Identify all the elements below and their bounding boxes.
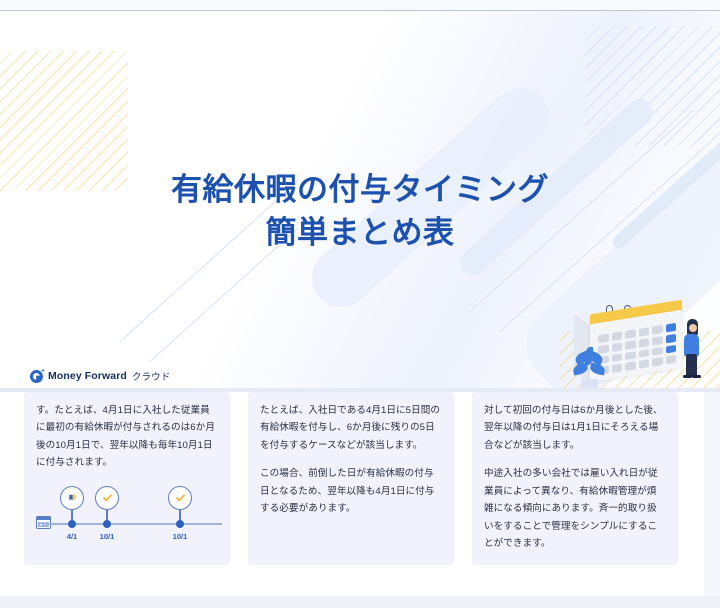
hero-background: 有給休暇の付与タイミング簡単まとめ表 Money Forward クラウド xyxy=(0,11,720,388)
timeline-node xyxy=(176,520,184,528)
slide-viewer: 有給休暇の付与タイミング簡単まとめ表 Money Forward クラウド xyxy=(0,0,720,608)
timeline-label: 10/1 xyxy=(173,532,188,541)
info-card: 対して初回の付与日は6か月後とした後、翌年以降の付与日は1月1日にそろえる場合な… xyxy=(472,392,678,565)
viewer-bottom-bar xyxy=(0,596,720,608)
timeline-label: 10/1 xyxy=(100,532,115,541)
card-paragraph: たとえば、入社日である4月1日に5日間の有給休暇を付与し、6か月後に残りの5日を… xyxy=(260,402,442,454)
person-figure xyxy=(680,319,704,381)
check-icon xyxy=(168,486,192,510)
brand-logo: Money Forward クラウド xyxy=(30,369,170,383)
logo-wordmark: Money Forward xyxy=(48,370,127,382)
timeline-node xyxy=(103,520,111,528)
slide-hero[interactable]: 有給休暇の付与タイミング簡単まとめ表 Money Forward クラウド xyxy=(0,11,720,388)
logo-suffix: クラウド xyxy=(132,369,170,383)
timeline-label: 4/1 xyxy=(67,532,78,541)
timeline-node xyxy=(68,520,76,528)
info-card: たとえば、入社日である4月1日に5日間の有給休暇を付与し、6か月後に残りの5日を… xyxy=(248,392,454,565)
viewer-top-bar xyxy=(0,0,720,11)
info-card: す。たとえば、4月1日に入社した従業員に最初の有給休暇が付与されるのは6か月後の… xyxy=(24,392,230,565)
potted-plant xyxy=(572,347,606,388)
calendar-icon xyxy=(36,514,51,529)
page-title-line-1: 有給休暇の付与タイミング xyxy=(171,172,549,207)
money-forward-logo-icon xyxy=(30,370,43,383)
badge-icon xyxy=(60,486,84,510)
page-title: 有給休暇の付与タイミング簡単まとめ表 xyxy=(0,169,720,255)
card-paragraph: 中途入社の多い会社では雇い入れ日が従業員によって異なり、有給休暇管理が煩雑になる… xyxy=(484,465,666,552)
card-row: す。たとえば、4月1日に入社した従業員に最初の有給休暇が付与されるのは6か月後の… xyxy=(24,392,680,565)
check-icon xyxy=(95,486,119,510)
grant-timeline: 4/1 10/1 10/1 xyxy=(36,486,218,546)
page-title-line-2: 簡単まとめ表 xyxy=(266,215,455,250)
slide-next-partial[interactable]: す。たとえば、4月1日に入社した従業員に最初の有給休暇が付与されるのは6か月後の… xyxy=(0,392,704,596)
card-paragraph: 対して初回の付与日は6か月後とした後、翌年以降の付与日は1月1日にそろえる場合な… xyxy=(484,402,666,454)
card-paragraph: す。たとえば、4月1日に入社した従業員に最初の有給休暇が付与されるのは6か月後の… xyxy=(36,402,218,472)
calendar-illustration xyxy=(572,299,720,388)
card-paragraph: この場合、前倒した日が有給休暇の付与日となるため、翌年以降も4月1日に付与する必… xyxy=(260,465,442,517)
